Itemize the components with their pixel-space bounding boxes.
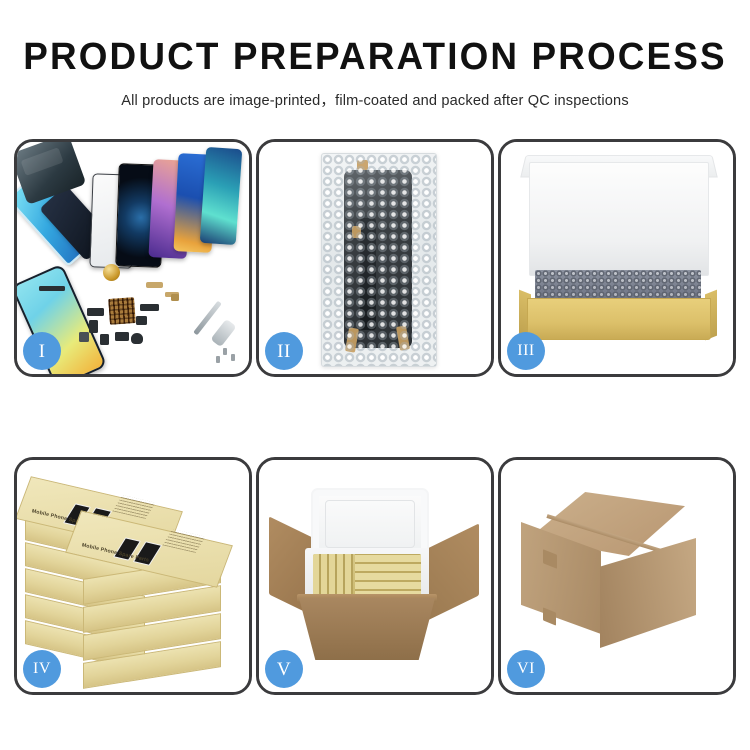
chip-grid-icon xyxy=(108,297,136,325)
step-badge-6: VI xyxy=(507,650,545,688)
part-icon xyxy=(146,282,163,288)
lcd-screen-icon xyxy=(344,170,412,348)
header: PRODUCT PREPARATION PROCESS All products… xyxy=(0,0,750,110)
step-badge-3: III xyxy=(507,332,545,370)
part-icon xyxy=(39,286,65,291)
tape-tab-icon xyxy=(357,160,368,170)
bubble-wrap-bag-icon xyxy=(321,153,437,367)
step-panel-6[interactable]: VI xyxy=(498,457,736,695)
step-badge-1: I xyxy=(23,332,61,370)
tape-tab-icon xyxy=(352,226,361,238)
screw-icon xyxy=(223,348,227,355)
part-icon xyxy=(136,316,147,325)
screw-icon xyxy=(231,354,235,361)
flex-cable-icon xyxy=(360,218,376,330)
part-icon xyxy=(79,332,89,342)
part-icon xyxy=(171,294,179,301)
steps-grid: I II xyxy=(14,139,736,695)
step-badge-4: IV xyxy=(23,650,61,688)
step-panel-3[interactable]: III xyxy=(498,139,736,377)
step-panel-4[interactable]: Mobile Phone Spare Parts Mobile Phone Sp… xyxy=(14,457,252,695)
page-subtitle: All products are image-printed，film-coat… xyxy=(0,89,750,110)
page-title: PRODUCT PREPARATION PROCESS xyxy=(11,38,739,76)
screw-icon xyxy=(216,356,220,363)
tweezers-icon xyxy=(210,319,236,347)
part-icon xyxy=(131,333,143,344)
part-icon xyxy=(87,308,104,316)
part-icon xyxy=(100,334,109,345)
kraft-box-stack-icon: Mobile Phone Spare Parts Mobile Phone Sp… xyxy=(23,486,243,672)
step-badge-5: V xyxy=(265,650,303,688)
phone-screen-teal-icon xyxy=(200,147,243,245)
speaker-coil-icon xyxy=(103,264,120,281)
step-badge-2: II xyxy=(265,332,303,370)
product-preparation-infographic: PRODUCT PREPARATION PROCESS All products… xyxy=(0,0,750,750)
box-lid-icon xyxy=(529,162,709,276)
part-icon xyxy=(140,304,159,311)
carton-body-icon xyxy=(299,598,435,660)
part-icon xyxy=(89,320,98,333)
step-panel-1[interactable]: I xyxy=(14,139,252,377)
part-icon xyxy=(115,332,129,341)
step-panel-2[interactable]: II xyxy=(256,139,494,377)
carton-right-face-icon xyxy=(600,538,696,648)
step-panel-5[interactable]: V xyxy=(256,457,494,695)
kraft-boxes-inside-icon xyxy=(313,554,421,598)
kraft-box-front-icon xyxy=(527,298,711,340)
